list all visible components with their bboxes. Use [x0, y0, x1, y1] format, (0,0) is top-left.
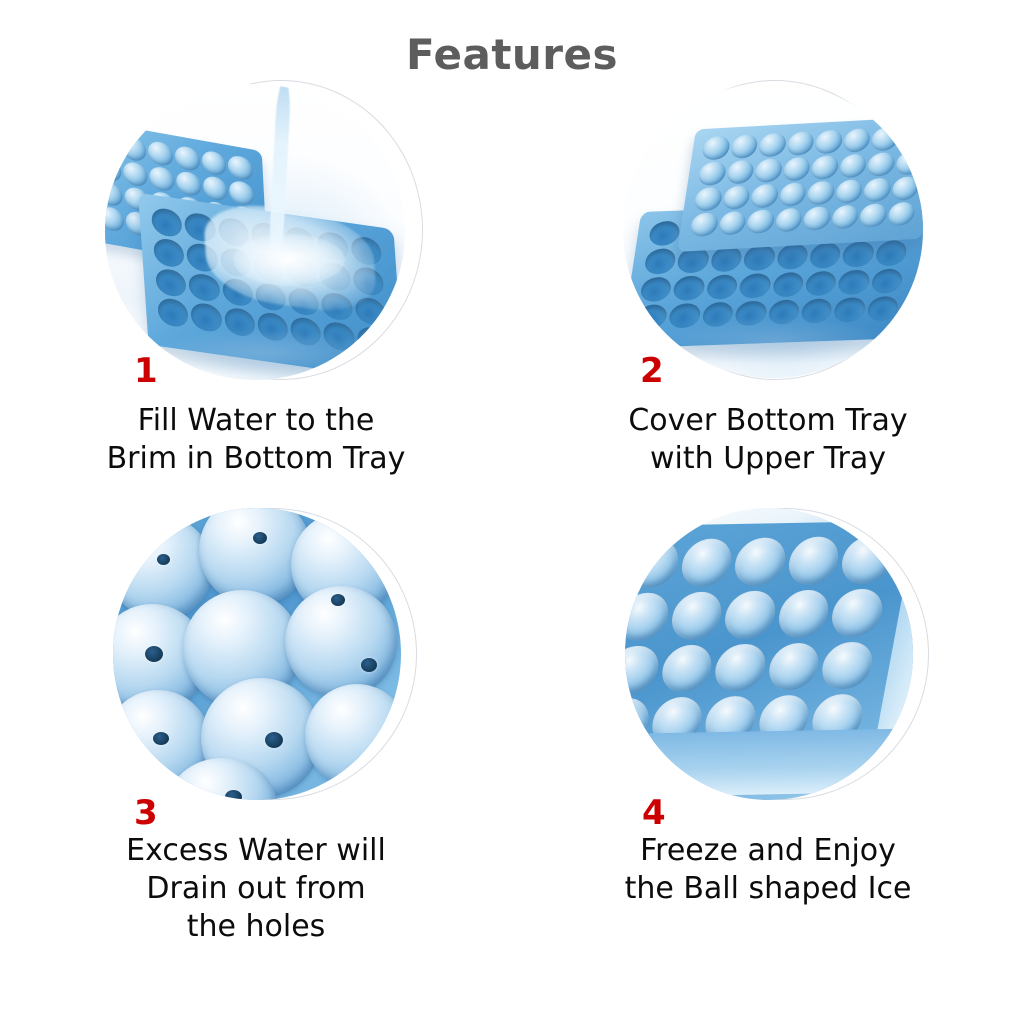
cup [808, 242, 842, 268]
step-number-1: 1 [134, 354, 158, 388]
cup [157, 297, 189, 328]
caption-line: Freeze and Enjoy [536, 832, 1000, 870]
dome [105, 205, 124, 232]
photo-frozen-ice-balls [625, 508, 913, 800]
photo-fill-water [105, 84, 405, 380]
ice-ball [785, 536, 843, 585]
dome [105, 180, 123, 207]
dome [729, 134, 759, 159]
cup [709, 246, 743, 272]
dome [749, 184, 779, 209]
cup [644, 248, 678, 274]
caption-line: Drain out from [24, 870, 488, 908]
feature-panel-4: 4 Freeze and Enjoy the Ball shaped Ice [512, 508, 1024, 908]
dome [105, 155, 122, 182]
dome [122, 160, 148, 187]
cup [153, 237, 185, 268]
cup [672, 275, 706, 301]
dome [842, 128, 872, 153]
caption-line: Cover Bottom Tray [536, 402, 1000, 440]
dome [174, 145, 200, 172]
drain-hole [331, 594, 345, 606]
dome [753, 158, 783, 183]
cup [742, 245, 776, 271]
ice-tray-graphic [625, 521, 913, 763]
feature-panel-1: 1 Fill Water to the Brim in Bottom Tray [0, 78, 512, 478]
cup [874, 240, 908, 266]
caption-line: with Upper Tray [536, 440, 1000, 478]
dome [717, 211, 747, 236]
cup [648, 221, 682, 247]
cup [738, 273, 772, 299]
dome [894, 150, 923, 175]
cup [870, 268, 904, 294]
cup [841, 241, 875, 267]
drain-hole [225, 790, 242, 800]
dome [830, 205, 860, 230]
ice-ball [625, 539, 682, 588]
dome [814, 129, 844, 154]
dome [866, 152, 896, 177]
drain-hole [253, 532, 267, 544]
upper-tray-graphic [677, 116, 923, 252]
caption-3: Excess Water will Drain out from the hol… [0, 832, 512, 946]
dome [201, 149, 227, 176]
dome [886, 201, 916, 226]
dome [176, 170, 202, 197]
drop-shadow [663, 318, 893, 364]
caption-line: Fill Water to the [24, 402, 488, 440]
ice-ball [678, 538, 736, 587]
drain-hole [361, 658, 377, 672]
dome [838, 153, 868, 178]
feature-image-3 [91, 508, 421, 808]
step-number-4: 4 [642, 796, 666, 830]
dome [898, 125, 923, 150]
cup [639, 276, 673, 302]
dome [802, 206, 832, 231]
ice-ball [829, 588, 887, 637]
ice-ball [721, 590, 779, 639]
ice-ball-grid [625, 535, 896, 746]
caption-1: Fill Water to the Brim in Bottom Tray [0, 402, 512, 478]
dome [148, 140, 174, 167]
ice-ball [658, 644, 716, 693]
page-title: Features [0, 30, 1024, 79]
caption-line: Excess Water will [24, 832, 488, 870]
ice-ball [625, 592, 672, 641]
dome [746, 209, 776, 234]
ice-ball [731, 537, 789, 586]
photo-drain-holes [113, 508, 401, 800]
dome [697, 161, 727, 186]
water-splash [233, 234, 345, 286]
dome [693, 187, 723, 212]
dome [725, 160, 755, 185]
dome [862, 177, 892, 202]
ice-ball [711, 643, 769, 692]
ice-ball [765, 642, 823, 691]
feature-image-1 [91, 78, 421, 390]
feature-image-2 [603, 78, 933, 390]
cup [705, 274, 739, 300]
cup [190, 302, 222, 333]
dome-grid [689, 125, 923, 237]
tray-front-edge [625, 729, 910, 798]
feature-panel-2: 2 Cover Bottom Tray with Upper Tray [512, 78, 1024, 478]
cup [804, 270, 838, 296]
dome [149, 165, 175, 192]
dome [105, 130, 120, 157]
drop-shadow [151, 330, 379, 376]
cup [837, 269, 871, 295]
dome [774, 208, 804, 233]
dome [701, 136, 731, 161]
ice-ball [775, 589, 833, 638]
photo-cover-tray [623, 82, 923, 378]
feature-image-4 [603, 508, 933, 808]
cup [155, 267, 187, 298]
dome [810, 155, 840, 180]
dome [757, 133, 787, 158]
cup [833, 297, 867, 323]
dome [806, 181, 836, 206]
caption-line: the Ball shaped Ice [536, 870, 1000, 908]
dome [858, 203, 888, 228]
dome [721, 185, 751, 210]
ice-ball [838, 535, 896, 584]
dome [121, 135, 147, 162]
ice-ball [625, 645, 662, 694]
dome [228, 154, 254, 181]
dome [785, 131, 815, 156]
cup [151, 207, 183, 238]
cup [771, 271, 805, 297]
cup [775, 244, 809, 270]
dome [229, 179, 255, 206]
caption-line: Brim in Bottom Tray [24, 440, 488, 478]
caption-2: Cover Bottom Tray with Upper Tray [512, 402, 1024, 478]
dome [202, 174, 228, 201]
caption-4: Freeze and Enjoy the Ball shaped Ice [512, 832, 1024, 908]
drain-hole [153, 732, 169, 745]
dome [689, 212, 719, 237]
caption-line: the holes [24, 908, 488, 946]
drain-hole [265, 732, 283, 748]
drain-hole [145, 646, 163, 662]
ice-ball [819, 641, 877, 690]
dome [778, 182, 808, 207]
dome [890, 176, 920, 201]
dome [870, 126, 900, 151]
cup [635, 304, 669, 330]
feature-panel-3: 3 Excess Water will Drain out from the h… [0, 508, 512, 946]
dome-ball [305, 684, 401, 788]
step-number-2: 2 [640, 354, 664, 388]
step-number-3: 3 [134, 796, 158, 830]
cup [866, 296, 900, 322]
dome [781, 157, 811, 182]
ice-ball [668, 591, 726, 640]
dome [834, 179, 864, 204]
drain-hole [157, 554, 170, 565]
